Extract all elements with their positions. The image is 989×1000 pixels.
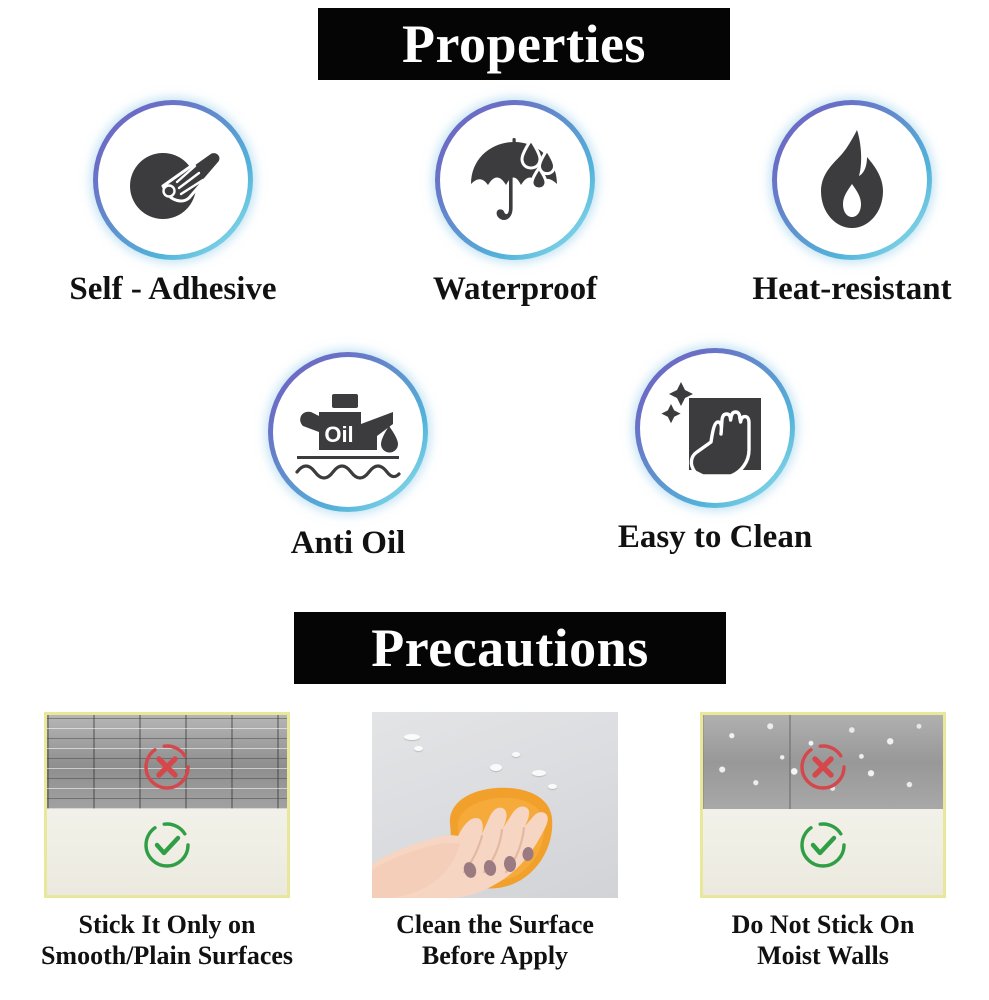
caption-line-1: Stick It Only on <box>79 910 256 939</box>
precaution-caption: Clean the Surface Before Apply <box>350 910 640 971</box>
property-icon-badge <box>93 100 253 260</box>
precautions-title: Precautions <box>371 621 648 675</box>
properties-title: Properties <box>402 17 646 71</box>
hand-peeling-sticker-icon <box>93 100 253 260</box>
precaution-clean-surface: Clean the Surface Before Apply <box>350 712 640 971</box>
property-label: Heat-resistant <box>727 272 977 307</box>
property-icon-badge <box>635 348 795 508</box>
property-icon-badge <box>435 100 595 260</box>
brick-wall-vs-smooth-wall-photo <box>44 712 290 898</box>
property-anti-oil: Oil Anti Oil <box>223 352 473 561</box>
oil-can-text: Oil <box>324 422 353 447</box>
infographic-page: Properties Self - Adhesive <box>0 0 989 1000</box>
wet-wall-vs-dry-wall-photo <box>700 712 946 898</box>
hand-with-orange-sponge-photo <box>372 712 618 898</box>
property-label: Anti Oil <box>223 526 473 561</box>
property-label: Self - Adhesive <box>48 272 298 307</box>
property-icon-badge: Oil <box>268 352 428 512</box>
property-label: Easy to Clean <box>590 520 840 555</box>
precaution-moist-walls: Do Not Stick On Moist Walls <box>678 712 968 971</box>
green-check-icon <box>141 819 193 871</box>
precaution-smooth-surfaces: Stick It Only on Smooth/Plain Surfaces <box>22 712 312 971</box>
wall-background <box>372 712 618 898</box>
property-easy-to-clean: Easy to Clean <box>590 348 840 555</box>
caption-line-2: Moist Walls <box>678 941 968 972</box>
red-cross-icon <box>797 741 849 793</box>
property-self-adhesive: Self - Adhesive <box>48 100 298 307</box>
caption-line-2: Smooth/Plain Surfaces <box>22 941 312 972</box>
red-cross-icon <box>141 741 193 793</box>
flame-icon <box>772 100 932 260</box>
precautions-section-banner: Precautions <box>294 612 726 684</box>
properties-section-banner: Properties <box>318 8 730 80</box>
property-icon-badge <box>772 100 932 260</box>
caption-line-2: Before Apply <box>350 941 640 972</box>
property-heat-resistant: Heat-resistant <box>727 100 977 307</box>
property-label: Waterproof <box>390 272 640 307</box>
caption-line-1: Clean the Surface <box>396 910 594 939</box>
precaution-caption: Do Not Stick On Moist Walls <box>678 910 968 971</box>
oil-can-icon: Oil <box>268 352 428 512</box>
caption-line-1: Do Not Stick On <box>732 910 915 939</box>
hand-wiping-cloth-icon <box>635 348 795 508</box>
precaution-caption: Stick It Only on Smooth/Plain Surfaces <box>22 910 312 971</box>
property-waterproof: Waterproof <box>390 100 640 307</box>
green-check-icon <box>797 819 849 871</box>
umbrella-raindrops-icon <box>435 100 595 260</box>
